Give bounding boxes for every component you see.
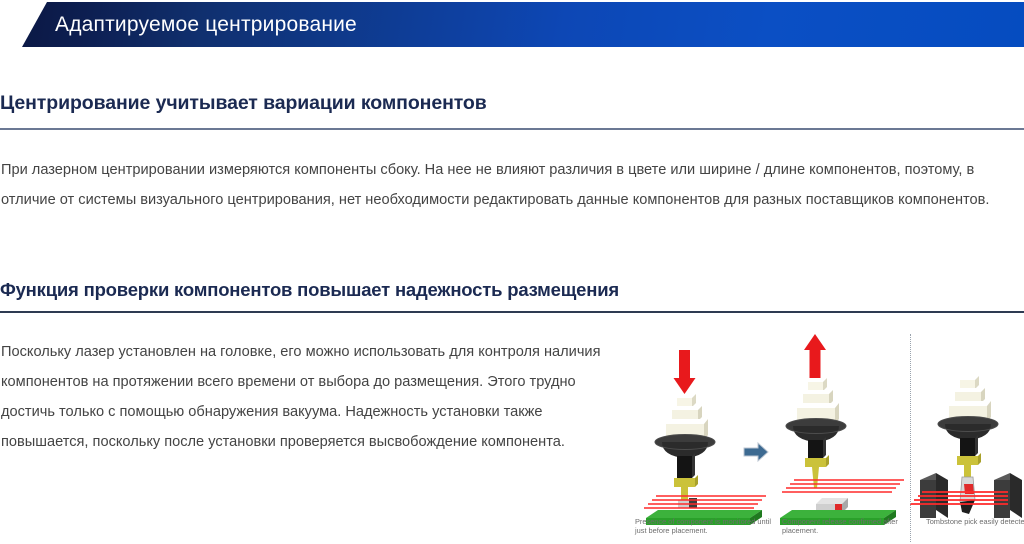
panel-1-graphic: [644, 350, 766, 525]
up-arrow-icon: [804, 334, 826, 378]
section-divider-2: [0, 311, 1024, 313]
panel-3-caption: Tombstone pick easily detected.: [926, 517, 1024, 526]
nozzle-flange-1: [655, 435, 715, 459]
laser-lines-2: [782, 480, 904, 492]
nozzle-flange-3: [938, 417, 998, 441]
section-heading-2: Функция проверки компонентов повышает на…: [0, 279, 619, 301]
figure-graphic: [632, 332, 1024, 544]
nozzle-shaft-1: [677, 453, 695, 478]
panel-1-caption: Presence of component is monitored until…: [635, 517, 775, 535]
panel-divider: [910, 334, 911, 542]
nozzle-body-3: [949, 376, 991, 422]
page-header-banner: Адаптируемое центрирование: [0, 2, 1024, 47]
nozzle-collar-2: [805, 455, 829, 488]
right-arrow-icon: [744, 443, 768, 461]
page-title: Адаптируемое центрирование: [55, 2, 357, 47]
nozzle-collar-3: [957, 453, 981, 477]
section-body-1: При лазерном центрировании измеряются ко…: [1, 155, 1023, 215]
section-divider-1: [0, 128, 1024, 130]
nozzle-shaft-3: [960, 435, 978, 456]
nozzle-shaft-2: [808, 437, 826, 458]
laser-lines-1: [644, 496, 766, 508]
placement-verification-figure: Presence of component is monitored until…: [632, 332, 1024, 544]
section-body-2: Поскольку лазер установлен на головке, е…: [1, 337, 626, 457]
panel-3-graphic: [910, 376, 1022, 518]
section-heading-1: Центрирование учитывает вариации компоне…: [0, 92, 487, 115]
nozzle-body-2: [797, 378, 839, 424]
nozzle-flange-2: [786, 419, 846, 443]
panel-2-caption: Component release confirmed after placem…: [782, 517, 902, 535]
down-arrow-icon: [674, 350, 696, 394]
nozzle-body-1: [666, 394, 708, 440]
panel-2-graphic: [780, 334, 904, 525]
